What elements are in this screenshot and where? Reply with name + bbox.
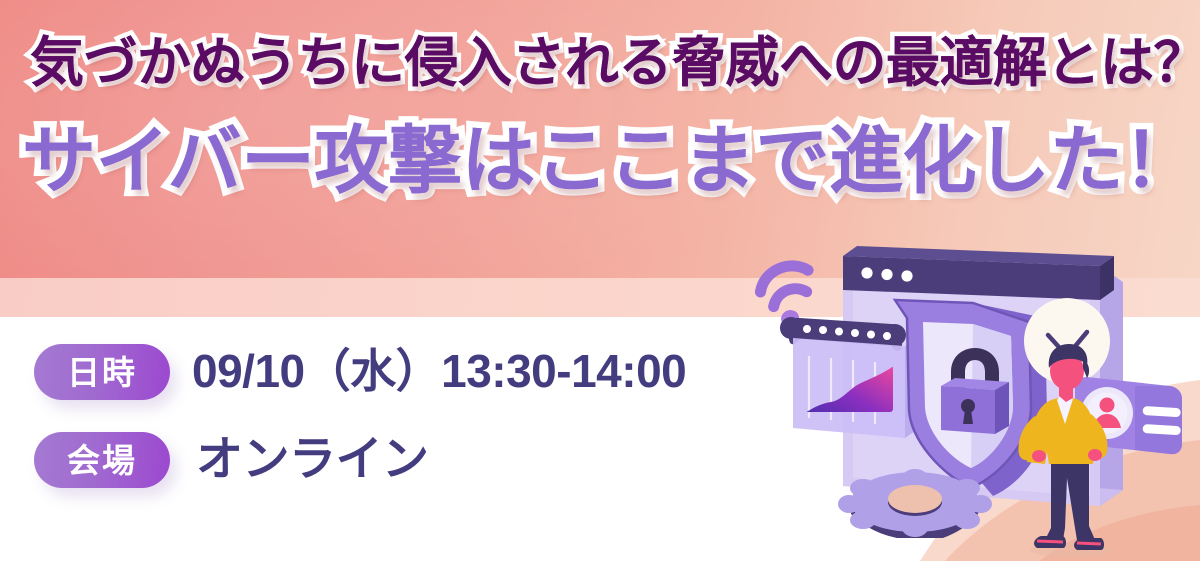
cyber-security-illustration [745, 238, 1200, 561]
detail-row-datetime: 日時 09/10（水）13:30-14:00 [0, 330, 780, 418]
headline-block: 気づかぬうちに侵入される脅威への最適解とは？ 気づかぬうちに侵入される脅威への最… [0, 0, 1200, 278]
detail-row-venue: 会場 オンライン [0, 418, 780, 506]
label-pill-venue: 会場 [34, 432, 170, 488]
window-dot [881, 269, 892, 280]
chart-panel [793, 338, 915, 438]
window-dot [861, 267, 872, 278]
label-pill-datetime-text: 日時 [67, 356, 137, 389]
gear-icon [838, 469, 992, 538]
headline-line1: 気づかぬうちに侵入される脅威への最適解とは？ [30, 32, 1200, 94]
event-details: 日時 09/10（水）13:30-14:00 会場 オンライン [0, 330, 780, 506]
label-pill-datetime: 日時 [34, 344, 170, 400]
datetime-value: 09/10（水）13:30-14:00 [192, 338, 686, 404]
label-pill-venue-text: 会場 [67, 444, 137, 477]
headline-line2: サイバー攻撃はここまで進化した！ [22, 118, 1197, 204]
venue-value: オンライン [196, 426, 429, 492]
webinar-banner: 気づかぬうちに侵入される脅威への最適解とは？ 気づかぬうちに侵入される脅威への最… [0, 0, 1200, 561]
window-dot [901, 270, 912, 281]
